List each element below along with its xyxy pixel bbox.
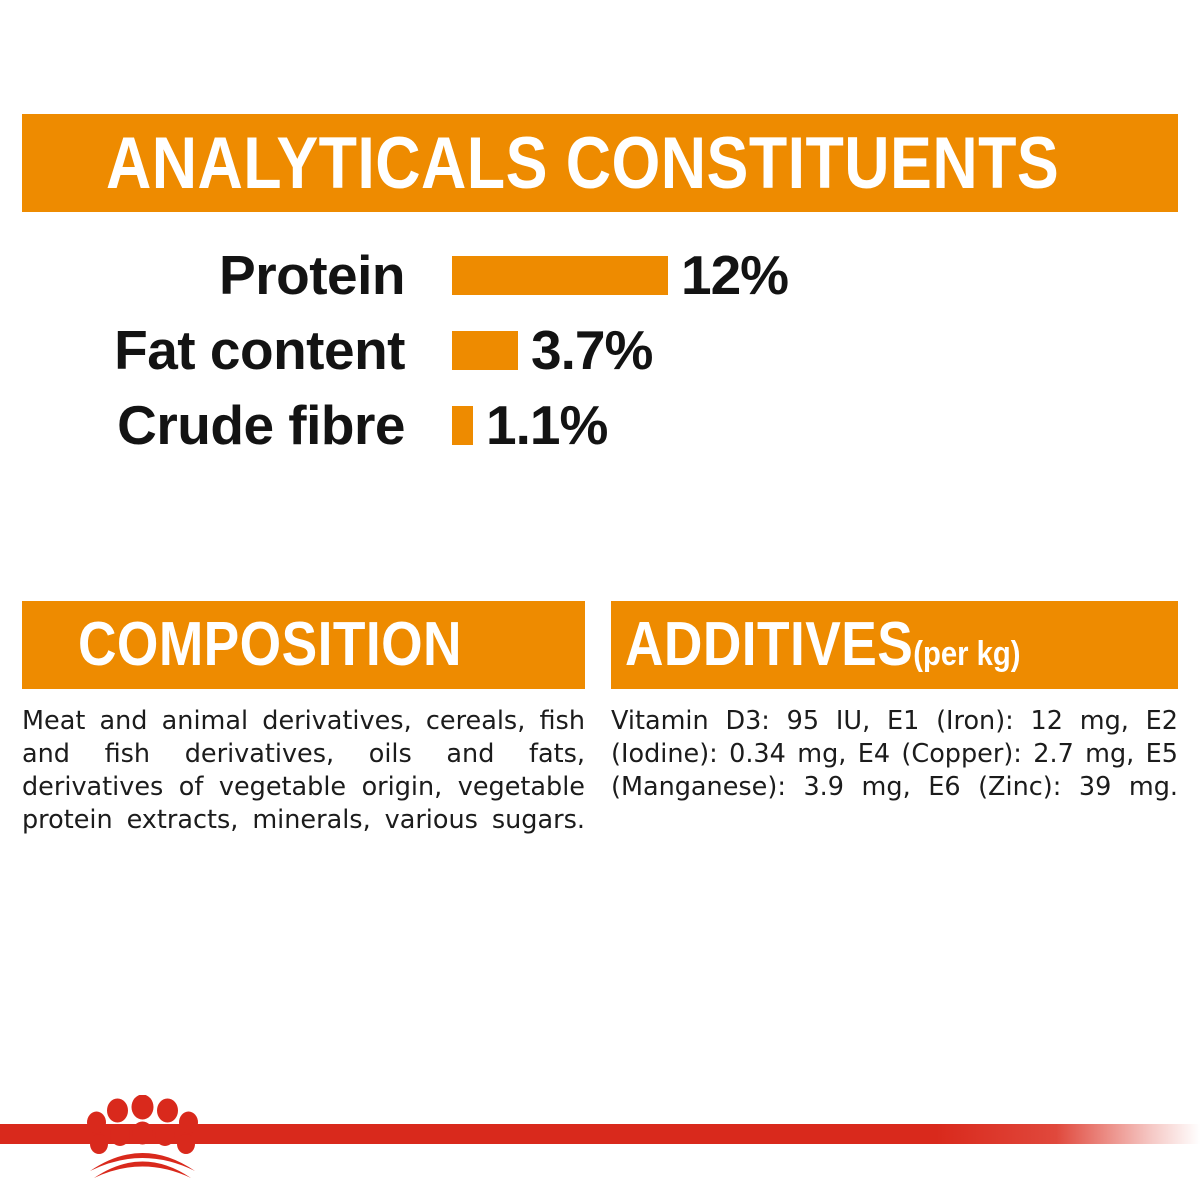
constituent-bar-group: 1.1% <box>452 398 607 453</box>
analyticals-constituents-header: ANALYTICALS CONSTITUENTS <box>22 114 1178 212</box>
composition-body-text: Meat and animal derivatives, cereals, fi… <box>22 705 585 870</box>
additives-header: ADDITIVES(per kg) <box>611 601 1178 689</box>
constituent-bar <box>452 331 518 370</box>
constituent-value: 1.1% <box>486 398 607 453</box>
constituent-bar-group: 12% <box>452 248 788 303</box>
additives-title-main: ADDITIVES <box>625 610 913 679</box>
analyticals-constituents-title: ANALYTICALS CONSTITUENTS <box>106 127 1059 200</box>
composition-title: COMPOSITION <box>78 614 462 676</box>
constituent-bar <box>452 406 473 445</box>
additives-body-text: Vitamin D3: 95 IU, E1 (Iron): 12 mg, E2 … <box>611 705 1178 837</box>
constituent-value: 12% <box>681 248 788 303</box>
analyticals-bar-chart: Protein 12% Fat content 3.7% Crude fibre… <box>0 238 1200 463</box>
constituent-row-protein: Protein 12% <box>0 238 1200 313</box>
product-info-panel: ANALYTICALS CONSTITUENTS Protein 12% Fat… <box>0 0 1200 1200</box>
constituent-bar-group: 3.7% <box>452 323 652 378</box>
constituent-label: Protein <box>0 248 405 303</box>
constituent-value: 3.7% <box>531 323 652 378</box>
composition-header: COMPOSITION <box>22 601 585 689</box>
constituent-label: Fat content <box>0 323 405 378</box>
additives-title: ADDITIVES(per kg) <box>625 614 1021 676</box>
constituent-row-crude-fibre: Crude fibre 1.1% <box>0 388 1200 463</box>
composition-text-content: Meat and animal derivatives, cereals, fi… <box>22 706 585 835</box>
constituent-row-fat-content: Fat content 3.7% <box>0 313 1200 388</box>
additives-text-content: Vitamin D3: 95 IU, E1 (Iron): 12 mg, E2 … <box>611 706 1178 802</box>
constituent-bar <box>452 256 668 295</box>
royal-canin-crown-icon <box>80 1095 205 1179</box>
additives-unit-note: (per kg) <box>913 635 1020 673</box>
brand-footer <box>0 1095 1200 1200</box>
constituent-label: Crude fibre <box>0 398 405 453</box>
